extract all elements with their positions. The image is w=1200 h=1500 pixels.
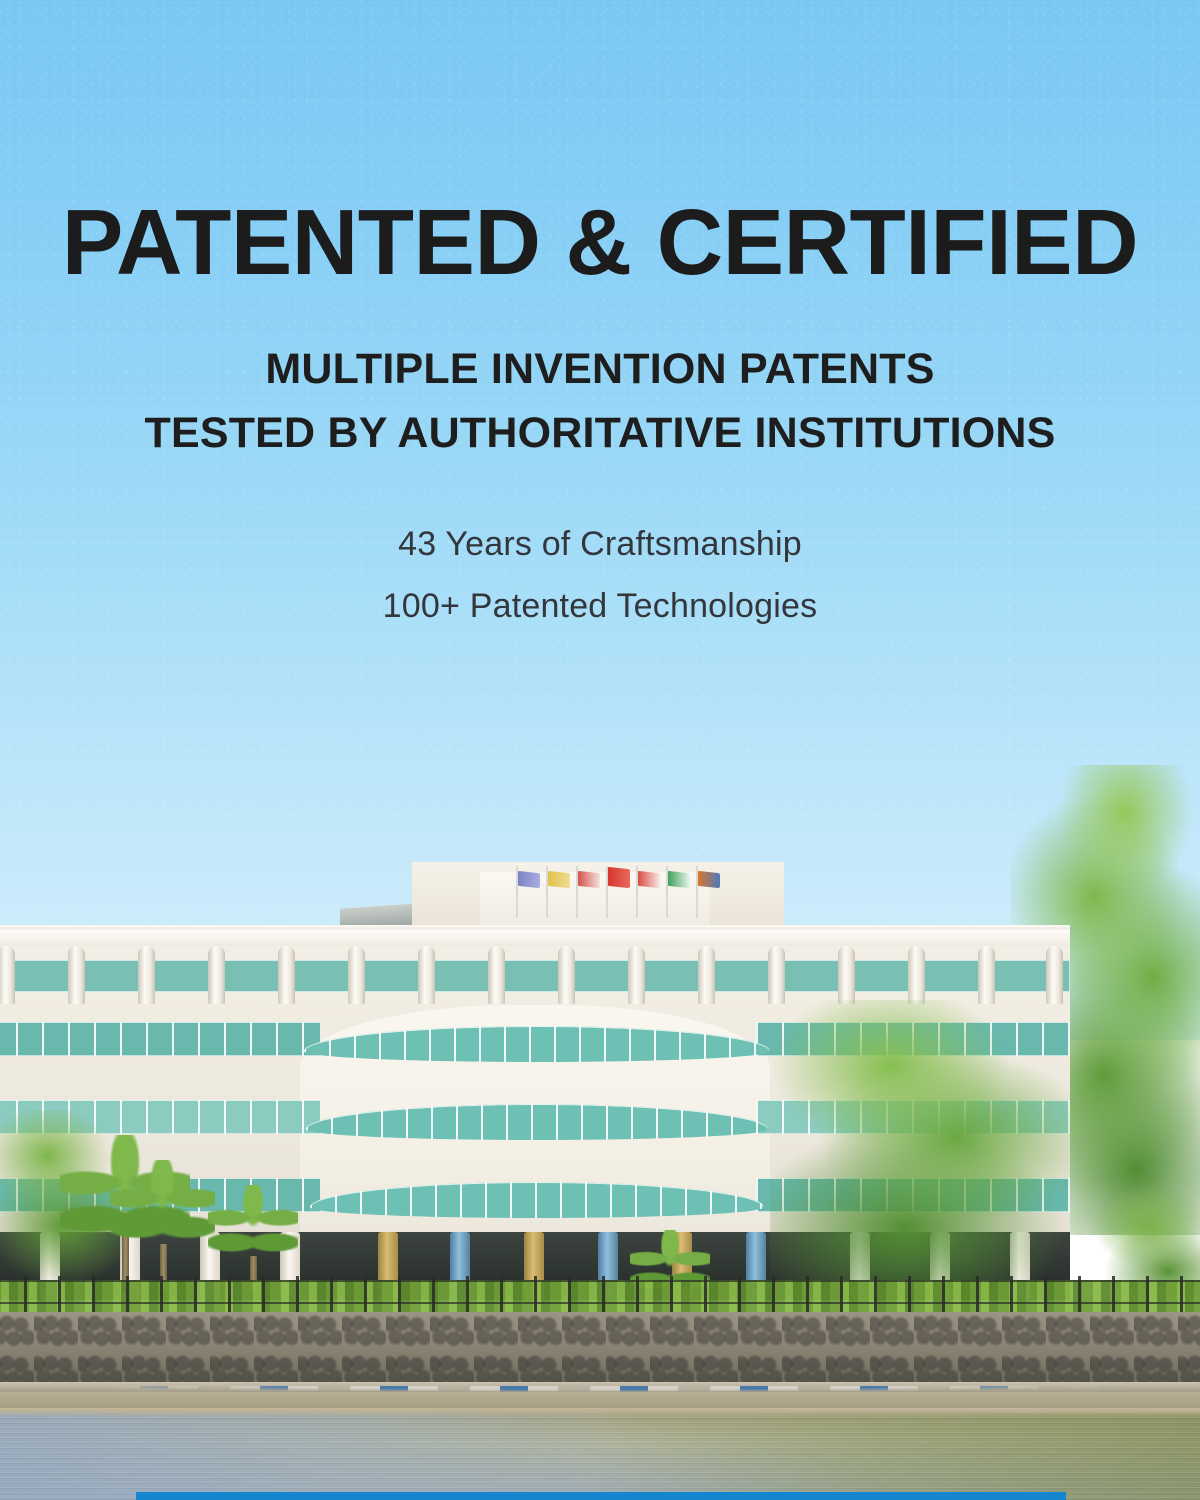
poster-root: PATENTED & CERTIFIED MULTIPLE INVENTION …: [0, 0, 1200, 1500]
window-band-left-1: [0, 1022, 320, 1056]
water-shore-edge: [0, 1408, 1200, 1418]
body-line-2: 100+ Patented Technologies: [0, 589, 1200, 623]
building-colonnade-upper: [0, 946, 1070, 1004]
flag-red: [608, 867, 630, 888]
subheading-line-1: MULTIPLE INVENTION PATENTS: [0, 348, 1200, 391]
flag-orange-blue: [698, 871, 720, 888]
flag-purple: [518, 871, 540, 888]
fence-rail-top: [0, 1280, 1200, 1282]
palm-tree-3: [208, 1185, 298, 1267]
subheading-line-2: TESTED BY AUTHORITATIVE INSTITUTIONS: [0, 412, 1200, 455]
flag-red-white-2: [638, 871, 660, 888]
building-roof-parapet: [0, 930, 1070, 946]
stone-seawall: [0, 1312, 1200, 1386]
flag-yellow: [548, 871, 570, 888]
shoreline-rope-barrier: [0, 1386, 1200, 1398]
fence-rail-bottom: [0, 1302, 1200, 1304]
palm-tree-2: [110, 1160, 215, 1256]
tree-center-right: [770, 1000, 1070, 1300]
flag-green-white: [668, 871, 690, 888]
flag-redwhite: [578, 871, 600, 888]
page-title: PATENTED & CERTIFIED: [6, 196, 1194, 289]
water-ripples: [0, 1412, 1200, 1500]
body-line-1: 43 Years of Craftsmanship: [0, 527, 1200, 561]
bottom-accent-bar: [136, 1492, 1066, 1500]
